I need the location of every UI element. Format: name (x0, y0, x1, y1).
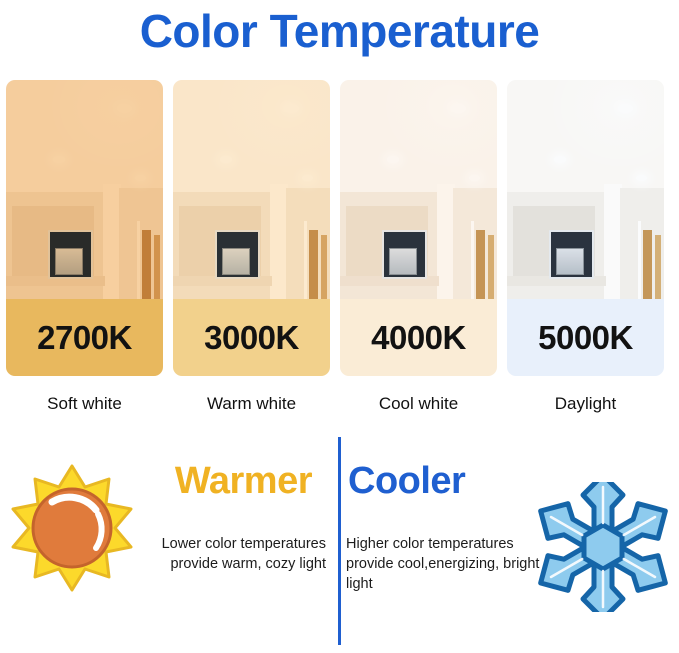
kelvin-label: 5000K (538, 319, 633, 357)
color-temperature-panel-3000k: 3000K (173, 80, 330, 376)
kelvin-band-2700k: 2700K (6, 299, 163, 376)
color-temperature-panel-strip: 2700K 3000K (6, 80, 673, 376)
color-temperature-panel-4000k: 4000K (340, 80, 497, 376)
room-scene-3000k (173, 80, 330, 299)
kelvin-band-5000k: 5000K (507, 299, 664, 376)
panel-caption-warm-white: Warm white (173, 392, 330, 424)
kelvin-label: 3000K (204, 319, 299, 357)
panel-caption-cool-white: Cool white (340, 392, 497, 424)
panel-caption-daylight: Daylight (507, 392, 664, 424)
kelvin-band-3000k: 3000K (173, 299, 330, 376)
kelvin-band-4000k: 4000K (340, 299, 497, 376)
comparison-divider (338, 437, 341, 645)
panel-caption-soft-white: Soft white (6, 392, 163, 424)
kelvin-label: 4000K (371, 319, 466, 357)
room-scene-4000k (340, 80, 497, 299)
warmer-description: Lower color temperatures provide warm, c… (130, 534, 326, 574)
cooler-description: Higher color temperatures provide cool,e… (346, 534, 551, 594)
warmer-heading: Warmer (0, 458, 326, 504)
color-temperature-panel-5000k: 5000K (507, 80, 664, 376)
page-title: Color Temperature (0, 2, 679, 60)
kelvin-label: 2700K (37, 319, 132, 357)
room-scene-5000k (507, 80, 664, 299)
color-temperature-panel-2700k: 2700K (6, 80, 163, 376)
room-scene-2700k (6, 80, 163, 299)
panel-caption-row: Soft white Warm white Cool white Dayligh… (6, 392, 673, 424)
cooler-heading: Cooler (344, 458, 674, 504)
